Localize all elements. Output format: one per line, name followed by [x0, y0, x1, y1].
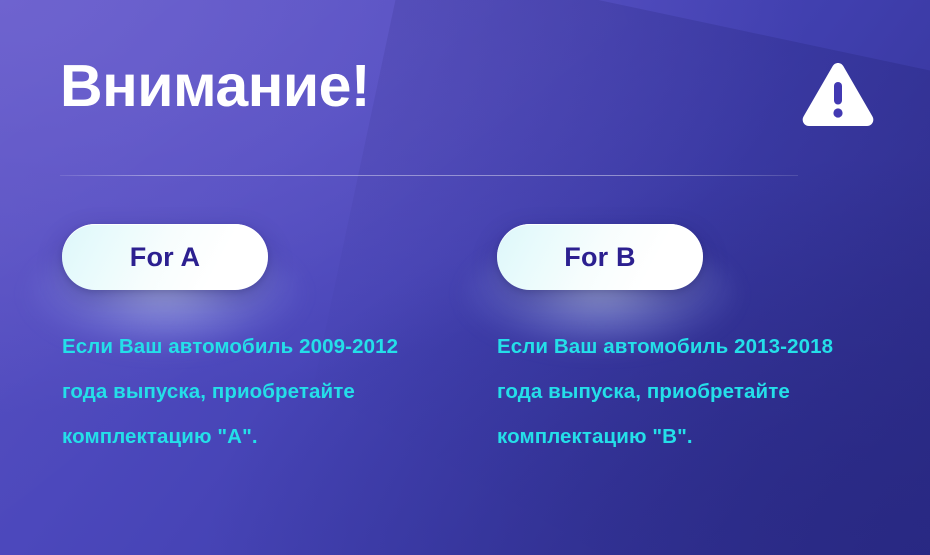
for-b-description-line-3: комплектацию "B". [497, 414, 897, 459]
attention-banner: Внимание! For A Если Ваш автомобиль 2009… [0, 0, 930, 555]
for-b-button-label: For B [564, 244, 636, 271]
for-a-description: Если Ваш автомобиль 2009-2012 года выпус… [62, 324, 462, 459]
for-b-button[interactable]: For B [497, 224, 703, 290]
for-b-description-line-1: Если Ваш автомобиль 2013-2018 [497, 324, 897, 369]
for-a-description-line-2: года выпуска, приобретайте [62, 369, 462, 414]
for-a-button-label: For A [130, 244, 201, 271]
for-b-description: Если Ваш автомобиль 2013-2018 года выпус… [497, 324, 897, 459]
for-a-button-wrap: For A [62, 224, 268, 290]
for-b-button-wrap: For B [497, 224, 703, 290]
option-column-for-a: For A Если Ваш автомобиль 2009-2012 года… [62, 224, 268, 290]
for-b-description-line-2: года выпуска, приобретайте [497, 369, 897, 414]
warning-triangle-icon [801, 62, 875, 128]
for-a-description-line-3: комплектацию "A". [62, 414, 462, 459]
for-a-description-line-1: Если Ваш автомобиль 2009-2012 [62, 324, 462, 369]
header-divider [60, 175, 798, 176]
page-title: Внимание! [60, 56, 370, 118]
for-a-button[interactable]: For A [62, 224, 268, 290]
option-column-for-b: For B Если Ваш автомобиль 2013-2018 года… [497, 224, 703, 290]
